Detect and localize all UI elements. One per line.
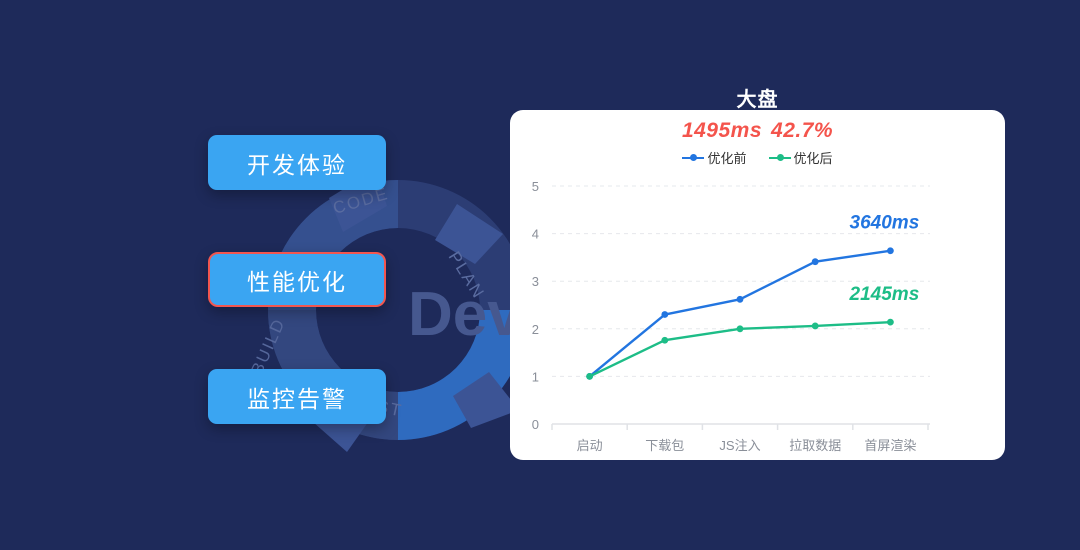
series-data-point[interactable]: [887, 319, 894, 326]
legend-item-before[interactable]: 优化前: [682, 148, 746, 167]
nav-item-dev-experience[interactable]: 开发体验: [208, 135, 386, 190]
panel-title: 大盘: [510, 83, 1005, 112]
chart-legend: 优化前 优化后: [510, 148, 1005, 167]
chart-end-labels: 3640ms2145ms: [849, 213, 920, 305]
x-axis-tick-label: JS注入: [719, 438, 760, 453]
chart-x-axis: [552, 424, 930, 430]
series-line: [590, 251, 891, 377]
series-data-point[interactable]: [812, 258, 819, 265]
nav-item-label: 性能优化: [247, 263, 347, 297]
nav-item-monitoring-alerts[interactable]: 监控告警: [208, 369, 386, 424]
summary-stats: 1495ms42.7%: [510, 119, 1005, 143]
nav-item-label: 开发体验: [247, 146, 347, 180]
wheel-label-plan: PLAN: [445, 248, 489, 303]
legend-label: 优化后: [794, 148, 833, 167]
series-data-point[interactable]: [812, 323, 819, 330]
series-data-point[interactable]: [737, 296, 744, 303]
legend-marker-icon: [682, 152, 704, 164]
nav-item-performance-optimization[interactable]: 性能优化: [208, 252, 386, 307]
chart-card: 1495ms42.7% 优化前 优化后 012345 启动下载包JS注入拉取数据…: [510, 110, 1005, 460]
stat-percent: 42.7%: [771, 119, 833, 142]
nav-item-label: 监控告警: [247, 380, 347, 414]
category-nav: 开发体验 性能优化 监控告警: [208, 135, 386, 424]
chart-x-axis-labels: 启动下载包JS注入拉取数据首屏渲染: [577, 438, 917, 453]
y-axis-tick-label: 4: [532, 227, 539, 242]
chart-series: [586, 247, 894, 379]
line-chart-plot: 012345 启动下载包JS注入拉取数据首屏渲染 3640ms2145ms: [510, 178, 1005, 460]
series-data-point[interactable]: [887, 247, 894, 254]
series-data-point[interactable]: [661, 311, 668, 318]
stat-value: 1495ms: [682, 119, 762, 142]
legend-marker-icon: [769, 152, 791, 164]
y-axis-tick-label: 3: [532, 274, 539, 289]
series-data-point[interactable]: [586, 373, 593, 380]
y-axis-tick-label: 5: [532, 179, 539, 194]
series-end-label: 2145ms: [849, 284, 920, 305]
y-axis-tick-label: 1: [532, 369, 539, 384]
x-axis-tick-label: 拉取数据: [789, 438, 841, 453]
y-axis-tick-label: 2: [532, 322, 539, 337]
series-end-label: 3640ms: [850, 213, 920, 234]
x-axis-tick-label: 启动: [577, 438, 603, 453]
legend-item-after[interactable]: 优化后: [769, 148, 833, 167]
y-axis-tick-label: 0: [532, 417, 539, 432]
series-data-point[interactable]: [661, 337, 668, 344]
wheel-center-label: Dev: [408, 280, 522, 349]
legend-label: 优化前: [707, 148, 746, 167]
x-axis-tick-label: 首屏渲染: [864, 438, 916, 453]
x-axis-tick-label: 下载包: [645, 438, 684, 453]
series-data-point[interactable]: [737, 325, 744, 332]
chart-y-axis-ticks: 012345: [532, 179, 539, 432]
